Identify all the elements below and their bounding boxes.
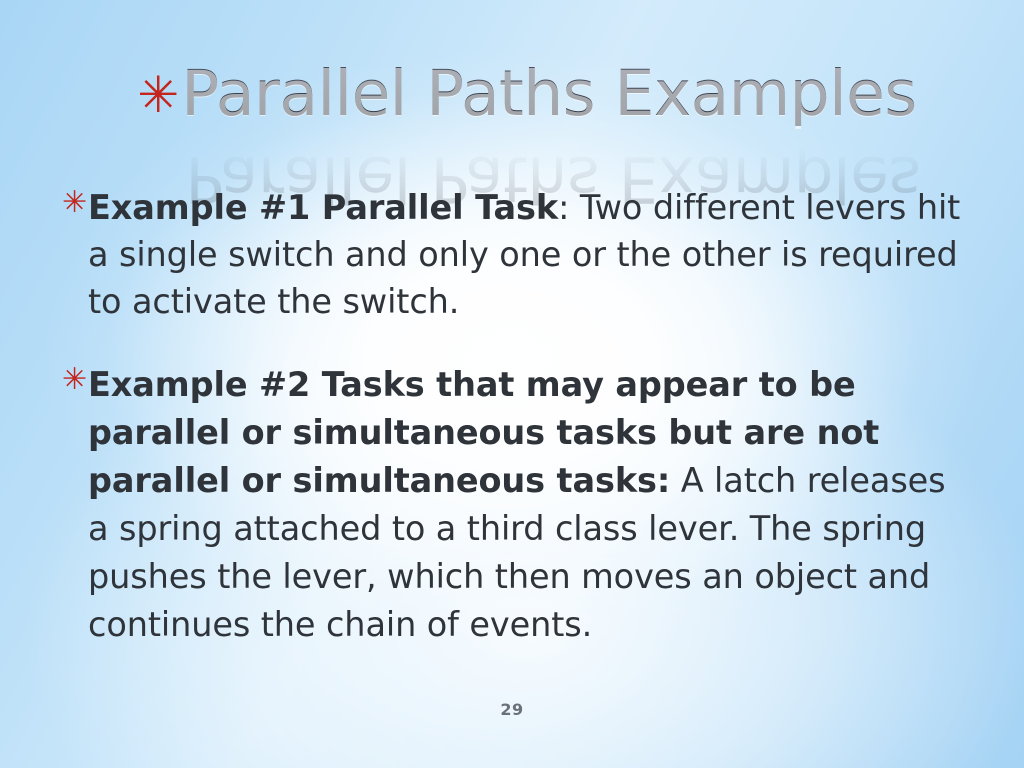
asterisk-icon: ✳ bbox=[137, 70, 179, 120]
bullet-lead-label: Example #1 Parallel Task bbox=[88, 188, 558, 227]
slide-title-area: ✳ Parallel Paths Examples bbox=[0, 62, 1024, 182]
slide-title-row: ✳ Parallel Paths Examples bbox=[0, 62, 1024, 126]
slide-canvas: ✳ Parallel Paths Examples Parallel Paths… bbox=[0, 0, 1024, 768]
bullet-text: Example #1 Parallel Task: Two different … bbox=[88, 184, 962, 325]
bullet-item-example-1: ✳ Example #1 Parallel Task: Two differen… bbox=[62, 184, 962, 325]
asterisk-bullet-icon: ✳ bbox=[62, 184, 88, 218]
asterisk-bullet-icon: ✳ bbox=[62, 361, 88, 395]
slide-body: ✳ Example #1 Parallel Task: Two differen… bbox=[62, 184, 962, 685]
bullet-item-example-2: ✳ Example #2 Tasks that may appear to be… bbox=[62, 361, 962, 649]
page-number: 29 bbox=[0, 700, 1024, 719]
page-title: Parallel Paths Examples bbox=[181, 62, 916, 126]
bullet-text: Example #2 Tasks that may appear to be p… bbox=[88, 361, 962, 649]
